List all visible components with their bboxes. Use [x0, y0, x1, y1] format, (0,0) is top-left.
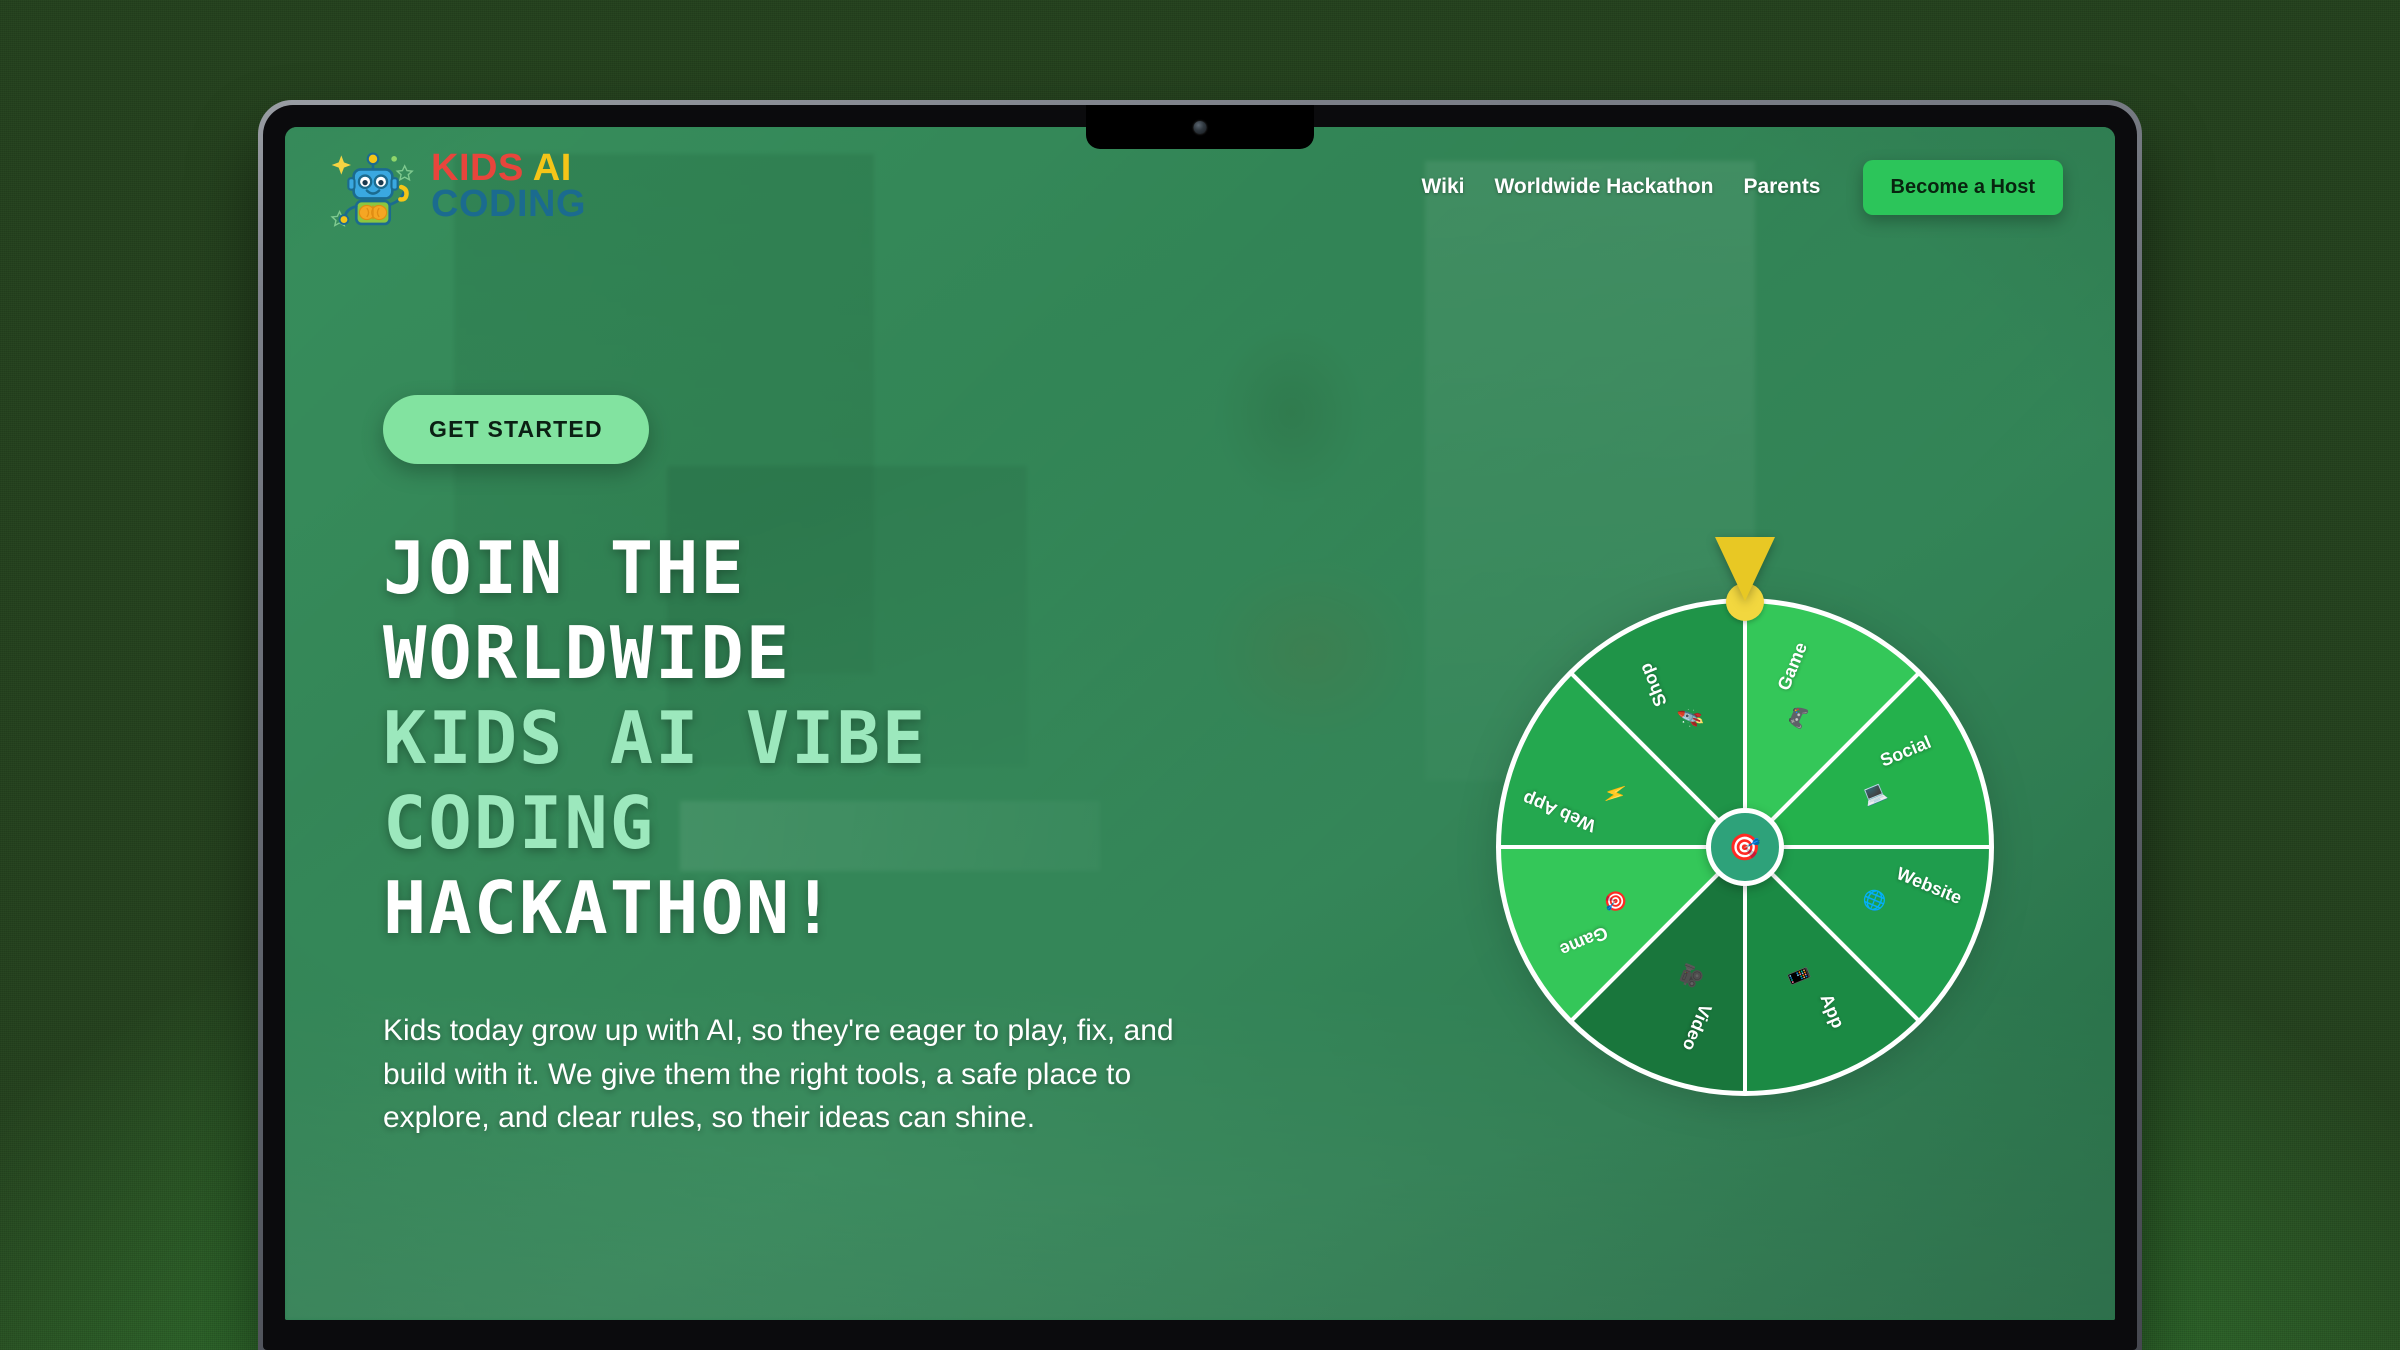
laptop-notch: [1086, 105, 1314, 149]
camera-icon: [1194, 121, 1207, 134]
wheel-disc[interactable]: Game🎮Social💻Website🌐App📱Video🎥Game🎯Web A…: [1495, 597, 1995, 1097]
page-title: JOIN THE WORLDWIDE KIDS AI VIBE CODING H…: [383, 526, 1303, 951]
nav-item-worldwide-hackathon[interactable]: Worldwide Hackathon: [1494, 175, 1713, 199]
hero-description: Kids today grow up with AI, so they're e…: [383, 1009, 1183, 1140]
logo-coding-text: CODING: [431, 187, 586, 223]
robot-mascot-icon: [329, 143, 417, 231]
logo-wordmark: KIDSAI CODING: [431, 151, 586, 222]
nav-item-parents[interactable]: Parents: [1743, 175, 1820, 199]
spin-wheel[interactable]: Game🎮Social💻Website🌐App📱Video🎥Game🎯Web A…: [1485, 535, 2005, 1095]
wheel-center-hub[interactable]: 🎯: [1706, 808, 1784, 886]
main-navigation: Wiki Worldwide Hackathon Parents Become …: [1421, 160, 2063, 215]
site-logo[interactable]: KIDSAI CODING: [329, 143, 586, 231]
headline-line-2: WORLDWIDE: [383, 611, 1303, 696]
headline-line-5: HACKATHON!: [383, 866, 1303, 951]
headline-line-4: CODING: [383, 781, 1303, 866]
become-a-host-button[interactable]: Become a Host: [1863, 160, 2064, 215]
nav-item-wiki[interactable]: Wiki: [1421, 175, 1464, 199]
website-screen: KIDSAI CODING Wiki Worldwide Hackathon P…: [285, 127, 2115, 1320]
triangle-pointer-icon: [1715, 537, 1775, 601]
get-started-button[interactable]: GET STARTED: [383, 395, 649, 464]
laptop-mockup: KIDSAI CODING Wiki Worldwide Hackathon P…: [258, 100, 2142, 1350]
page-backdrop: KIDSAI CODING Wiki Worldwide Hackathon P…: [0, 0, 2400, 1350]
headline-line-3: KIDS AI VIBE: [383, 696, 1303, 781]
laptop-bezel: KIDSAI CODING Wiki Worldwide Hackathon P…: [263, 105, 2137, 1350]
headline-line-1: JOIN THE: [383, 526, 1303, 611]
hero-section: GET STARTED JOIN THE WORLDWIDE KIDS AI V…: [383, 395, 1303, 1140]
logo-line-1: KIDSAI: [431, 151, 586, 187]
